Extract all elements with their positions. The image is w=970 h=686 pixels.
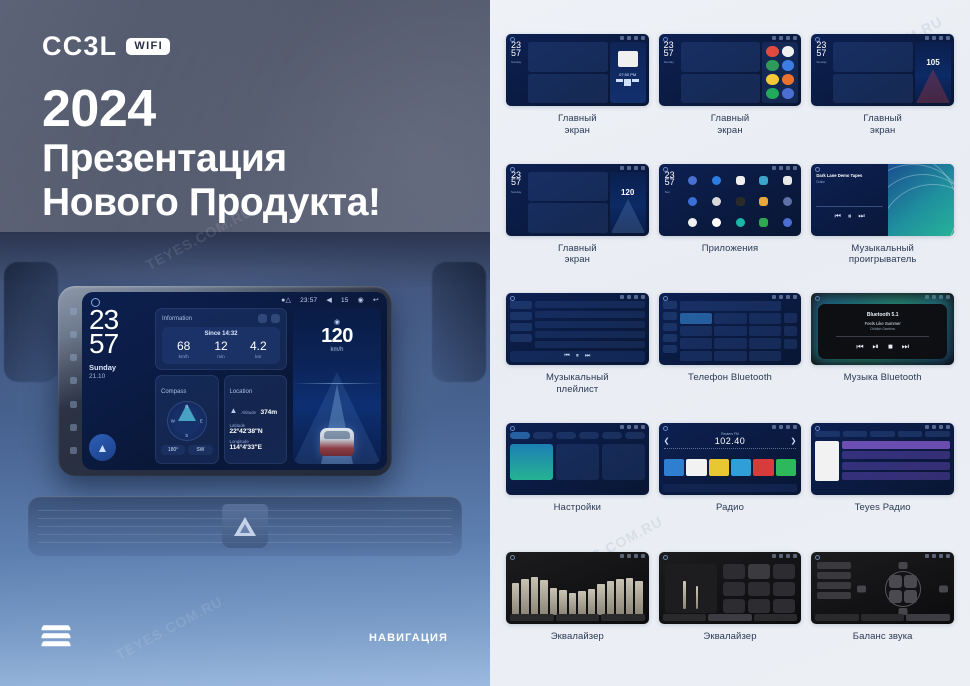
location-title: Location bbox=[230, 389, 253, 395]
caption-line-1: Музыкальный bbox=[546, 372, 609, 383]
head-unit-device: ●△ 23:57 ◀ 15 ◉ ↩ 23 57 Sunday 21.10 bbox=[58, 286, 392, 476]
headline: 2024 Презентация Нового Продукта! bbox=[42, 82, 381, 224]
caption-line-1: Настройки bbox=[554, 502, 601, 513]
compass-readouts: 180° SW bbox=[161, 445, 213, 455]
mini-player-bar[interactable]: ⏮ ⏸ ⏭ bbox=[510, 351, 645, 362]
playback-controls[interactable]: ⏮ ⏸ ⏭ bbox=[816, 213, 883, 221]
compass-dial: N S W E bbox=[167, 401, 207, 441]
caption-line-1: Главный bbox=[558, 243, 597, 254]
previous-icon[interactable]: ⏮ bbox=[856, 342, 863, 352]
bluetooth-card: Bluetooth 5.1 Feels Like Summer Childish… bbox=[818, 304, 947, 359]
gallery-caption: Баланс звука bbox=[853, 631, 913, 643]
preset-6[interactable] bbox=[776, 459, 796, 476]
hw-button-prev[interactable] bbox=[70, 308, 77, 315]
speed-value: 120 bbox=[293, 326, 381, 346]
wifi-icon: ●△ bbox=[281, 296, 291, 304]
fader-group[interactable] bbox=[665, 564, 717, 613]
altitude-value: 374m bbox=[261, 409, 277, 416]
navigation-label: НАВИГАЦИЯ bbox=[369, 632, 448, 644]
compass-title: Compass bbox=[161, 389, 186, 395]
track-artist: Drake bbox=[816, 180, 883, 184]
thumbnail-equalizer-presets[interactable] bbox=[659, 552, 802, 624]
car-dashboard-illustration: ●△ 23:57 ◀ 15 ◉ ↩ 23 57 Sunday 21.10 bbox=[0, 238, 490, 686]
status-time: 23:57 bbox=[300, 297, 317, 304]
volume-icon: ◀ bbox=[326, 296, 332, 304]
progress-bar[interactable] bbox=[836, 336, 929, 337]
mini-clock: 2357Sun bbox=[663, 172, 680, 232]
trip-stat-value: 68 bbox=[165, 340, 202, 352]
caption-line-1: Баланс звука bbox=[853, 631, 913, 642]
more-card[interactable] bbox=[602, 444, 645, 480]
hw-button-back[interactable] bbox=[70, 401, 77, 408]
gallery-caption: Эквалайзер bbox=[551, 631, 604, 643]
expand-icon[interactable] bbox=[271, 314, 280, 323]
drive-view: 105 bbox=[915, 42, 951, 103]
station-list[interactable] bbox=[842, 441, 950, 481]
gallery-item[interactable]: Настройки bbox=[506, 423, 649, 547]
compass-north: N bbox=[185, 404, 188, 409]
caption-line-1: Главный bbox=[863, 113, 902, 124]
gallery-caption: Главный экран bbox=[558, 113, 597, 137]
preset-buttons[interactable] bbox=[723, 564, 796, 613]
home-screen-body: 23 57 Sunday 21.10 ▲ Information bbox=[89, 308, 381, 464]
compass-east: E bbox=[200, 419, 203, 424]
thumbnail-bluetooth-phone[interactable] bbox=[659, 293, 802, 365]
call-icon[interactable] bbox=[784, 339, 797, 349]
wifi-badge: WIFI bbox=[126, 38, 170, 55]
balance-left-icon[interactable] bbox=[857, 585, 866, 592]
hw-button-power[interactable] bbox=[70, 354, 77, 361]
hazard-triangle-icon bbox=[234, 517, 256, 536]
equalizer-tabs[interactable] bbox=[663, 614, 798, 621]
gallery-item[interactable]: 2357Sunday bbox=[659, 34, 802, 158]
caption-line-1: Главный bbox=[558, 113, 597, 124]
gallery-item[interactable]: 2357Sunday 120 Главный экран bbox=[506, 164, 649, 288]
gallery-caption: Музыка Bluetooth bbox=[844, 372, 922, 384]
gallery-item[interactable]: Reuters FM ❮ 102.40 ❯ bbox=[659, 423, 802, 547]
next-icon[interactable]: ⏭ bbox=[902, 342, 909, 352]
app-grid[interactable] bbox=[683, 172, 798, 232]
settings-gear-icon[interactable] bbox=[258, 314, 267, 323]
play-pause-icon[interactable]: ⏯ bbox=[873, 342, 879, 352]
settings-tabs[interactable] bbox=[510, 432, 645, 439]
caption-line-1: Музыкальный bbox=[851, 243, 914, 254]
trip-stat-list: 68 km/h 12 min 4.2 bbox=[165, 340, 277, 359]
album-art bbox=[815, 441, 839, 481]
preset-2[interactable] bbox=[686, 459, 706, 476]
radio-presets[interactable] bbox=[664, 459, 797, 476]
widgets-column: Information Since 14:32 bbox=[155, 308, 287, 464]
gallery-item[interactable]: 2357Sunday 07:50 PM Главный экран bbox=[506, 34, 649, 158]
thumbnail-bluetooth-music[interactable]: Bluetooth 5.1 Feels Like Summer Childish… bbox=[811, 293, 954, 365]
gallery-item[interactable]: Эквалайзер bbox=[506, 552, 649, 676]
balance-tabs[interactable] bbox=[815, 614, 950, 621]
tuning-scale[interactable] bbox=[664, 448, 797, 452]
compass-heading: 180° bbox=[161, 445, 185, 455]
balance-up-icon[interactable] bbox=[898, 562, 907, 569]
gallery-caption: Главный экран bbox=[863, 113, 902, 137]
status-bar: ●△ 23:57 ◀ 15 ◉ ↩ bbox=[281, 296, 379, 304]
gallery-item[interactable]: ⏮ ⏸ ⏭ Музыкальный плейлист bbox=[506, 293, 649, 417]
clock-date: 21.10 bbox=[89, 373, 149, 380]
headline-line-2: Нового Продукта! bbox=[42, 181, 381, 225]
gallery-caption: Главный экран bbox=[558, 243, 597, 267]
phone-sidebar[interactable] bbox=[663, 301, 677, 361]
previous-icon[interactable]: ⏮ bbox=[835, 213, 841, 221]
status-volume: 15 bbox=[341, 297, 349, 304]
compass-points: N S W E bbox=[168, 402, 206, 440]
data-usage-card[interactable] bbox=[556, 444, 599, 480]
media-widget: 07:50 PM bbox=[610, 42, 646, 103]
preset-3[interactable] bbox=[709, 459, 729, 476]
car-3d-model-icon bbox=[320, 428, 354, 456]
information-title: Information bbox=[162, 316, 192, 322]
tune-down-icon[interactable]: ❮ bbox=[664, 437, 670, 445]
teyes-tabs[interactable] bbox=[815, 431, 950, 437]
information-actions[interactable] bbox=[258, 314, 280, 323]
favorite-star-icon[interactable] bbox=[784, 313, 797, 323]
trip-stat-value: 4.2 bbox=[240, 340, 277, 352]
mountain-icon: ▲ bbox=[230, 406, 238, 415]
number-display bbox=[680, 301, 782, 311]
caption-line-2: экран bbox=[717, 125, 742, 136]
clock-day: Sunday bbox=[89, 363, 149, 372]
altitude-label: Altitude bbox=[241, 410, 256, 415]
thumbnail-apps[interactable]: 2357Sun bbox=[659, 164, 802, 236]
drive-view-widget[interactable]: ◉ 120 km/h bbox=[293, 308, 381, 464]
trip-stat: 4.2 km bbox=[240, 340, 277, 359]
longitude-value: 114°4'33"E bbox=[230, 444, 282, 451]
center-console-panel bbox=[28, 496, 462, 556]
thumbnail-teyes-radio[interactable] bbox=[811, 423, 954, 495]
mini-clock: 2357Sunday bbox=[509, 172, 526, 233]
gallery-item[interactable]: Баланс звука bbox=[811, 552, 954, 676]
track-title: Dark Lane Demo Tapes bbox=[816, 173, 883, 178]
gallery-item[interactable]: Bluetooth 5.1 Feels Like Summer Childish… bbox=[811, 293, 954, 417]
thumbnail-home-media[interactable]: 2357Sunday 07:50 PM bbox=[506, 34, 649, 106]
trip-since-label: Since 14:32 bbox=[165, 331, 277, 337]
presentation-slide: CC3L WIFI 2024 Презентация Нового Продук… bbox=[0, 0, 970, 686]
caption-line-1: Главный bbox=[711, 113, 750, 124]
layers-icon bbox=[42, 624, 70, 648]
tune-up-icon[interactable]: ❯ bbox=[790, 437, 796, 445]
caption-line-1: Музыка Bluetooth bbox=[844, 372, 922, 383]
clock-column: 23 57 Sunday 21.10 ▲ bbox=[89, 308, 149, 464]
secondary-widgets: Compass N S W E bbox=[155, 375, 287, 464]
pause-icon[interactable]: ⏸ bbox=[576, 353, 579, 360]
gallery-item[interactable]: Телефон Bluetooth bbox=[659, 293, 802, 417]
caption-line-1: Teyes Радио bbox=[855, 502, 911, 513]
headline-year: 2024 bbox=[42, 82, 381, 137]
phone-actions[interactable] bbox=[784, 301, 797, 361]
thumbnail-music-playlist[interactable]: ⏮ ⏸ ⏭ bbox=[506, 293, 649, 365]
caption-line-2: проигрыватель bbox=[849, 254, 917, 265]
speed-value: 120 bbox=[610, 188, 646, 197]
mini-clock: 2357Sunday bbox=[509, 42, 526, 103]
settings-cards[interactable] bbox=[510, 444, 645, 480]
horizon-line bbox=[293, 383, 381, 384]
track-title: Feels Like Summer bbox=[865, 321, 901, 326]
altitude-block: Altitude 374m bbox=[241, 401, 277, 419]
gallery-caption: Музыкальный плейлист bbox=[546, 372, 609, 396]
longitude-row: Longitude 114°4'33"E bbox=[230, 439, 282, 451]
gallery-caption: Настройки bbox=[554, 502, 601, 514]
equalizer-tabs[interactable] bbox=[510, 614, 645, 621]
hw-button-home[interactable] bbox=[70, 377, 77, 384]
thumbnail-settings[interactable] bbox=[506, 423, 649, 495]
pause-icon[interactable]: ⏸ bbox=[848, 213, 852, 221]
air-vent-left bbox=[4, 262, 58, 382]
caption-line-1: Приложения bbox=[702, 243, 759, 254]
radio-toolbar[interactable] bbox=[663, 484, 798, 492]
previous-icon[interactable]: ⏮ bbox=[564, 353, 569, 360]
caption-line-2: экран bbox=[870, 125, 895, 136]
bluetooth-version: Bluetooth 5.1 bbox=[867, 312, 899, 318]
thumbnail-home-drive-120[interactable]: 2357Sunday 120 bbox=[506, 164, 649, 236]
progress-bar[interactable] bbox=[816, 206, 883, 208]
air-vent-right bbox=[432, 262, 486, 382]
speed-readout: ◉ 120 km/h bbox=[293, 318, 381, 353]
head-unit-screen[interactable]: ●△ 23:57 ◀ 15 ◉ ↩ 23 57 Sunday 21.10 bbox=[82, 292, 387, 470]
location-widget[interactable]: Location ▲ Altitude 374m bbox=[224, 375, 288, 464]
gallery-caption: Teyes Радио bbox=[855, 502, 911, 514]
caption-line-1: Телефон Bluetooth bbox=[688, 372, 772, 383]
thumbnail-equalizer-bands[interactable] bbox=[506, 552, 649, 624]
back-icon[interactable]: ↩ bbox=[373, 296, 379, 304]
hazard-lights-button[interactable] bbox=[222, 504, 268, 548]
gallery-item[interactable]: 2357Sunday 105 Главный экран bbox=[811, 34, 954, 158]
caption-line-2: экран bbox=[565, 125, 590, 136]
hw-button-next[interactable] bbox=[70, 331, 77, 338]
preset-4[interactable] bbox=[731, 459, 751, 476]
radio-frequency: 102.40 bbox=[715, 436, 746, 446]
gallery-item[interactable]: 2357Sun Приложения bbox=[659, 164, 802, 288]
gallery-item[interactable]: Teyes Радио bbox=[811, 423, 954, 547]
thumbnail-sound-balance[interactable] bbox=[811, 552, 954, 624]
thumbnail-grid: 2357Sunday 07:50 PM Главный экран bbox=[506, 34, 954, 676]
next-icon[interactable]: ⏭ bbox=[858, 213, 864, 221]
thumbnail-row: 2357Sunday 120 Главный экран bbox=[506, 164, 954, 288]
clock-minutes: 57 bbox=[89, 332, 149, 356]
balance-presets[interactable] bbox=[817, 562, 851, 615]
latitude-value: 22°42'38"N bbox=[230, 428, 282, 435]
information-header: Information bbox=[162, 314, 280, 323]
thumbnail-radio[interactable]: Reuters FM ❮ 102.40 ❯ bbox=[659, 423, 802, 495]
speaker-layout[interactable] bbox=[885, 571, 921, 607]
caption-line-2: экран bbox=[565, 254, 590, 265]
navigation-arrow-icon[interactable]: ▲ bbox=[89, 434, 116, 461]
gallery-caption: Эквалайзер bbox=[703, 631, 756, 643]
brand-logo: CC3L WIFI bbox=[42, 33, 170, 60]
trip-stat: 68 km/h bbox=[165, 340, 202, 359]
mini-clock: 2357Sunday bbox=[662, 42, 679, 103]
thumbnail-home-apps[interactable]: 2357Sunday bbox=[659, 34, 802, 106]
altitude-row: ▲ Altitude 374m bbox=[230, 401, 282, 419]
mini-clock: 2357Sunday bbox=[814, 42, 831, 103]
preset-5[interactable] bbox=[753, 459, 773, 476]
playback-controls[interactable]: ⏮ ⏯ ■ ⏭ bbox=[856, 342, 909, 352]
balance-right-icon[interactable] bbox=[939, 585, 948, 592]
speed-unit: km/h bbox=[293, 347, 381, 353]
gallery-caption: Приложения bbox=[702, 243, 759, 255]
caption-line-1: Радио bbox=[716, 502, 744, 513]
compass-direction: SW bbox=[188, 445, 212, 455]
latitude-row: Latitude 22°42'38"N bbox=[230, 423, 282, 435]
gallery-item[interactable]: Dark Lane Demo Tapes Drake ⏮ ⏸ ⏭ bbox=[811, 164, 954, 288]
balance-pad[interactable] bbox=[857, 562, 948, 615]
caption-line-2: плейлист bbox=[556, 384, 598, 395]
trip-stat-unit: km/h bbox=[165, 354, 202, 359]
compass-west: W bbox=[171, 419, 175, 424]
call-history-icon[interactable] bbox=[784, 326, 797, 336]
information-widget[interactable]: Information Since 14:32 bbox=[155, 308, 287, 370]
thumbnail-row: ⏮ ⏸ ⏭ Музыкальный плейлист bbox=[506, 293, 954, 417]
compass-south: S bbox=[185, 433, 188, 438]
album-visualizer bbox=[888, 164, 954, 236]
stop-icon[interactable]: ■ bbox=[888, 342, 893, 352]
gallery-item[interactable]: Эквалайзер bbox=[659, 552, 802, 676]
track-artist: Childish Gambino bbox=[870, 327, 895, 331]
trip-stat-unit: min bbox=[202, 354, 239, 359]
headline-line-1: Презентация bbox=[42, 137, 381, 181]
speed-value: 105 bbox=[915, 58, 951, 67]
thumbnail-row: Настройки Reuters FM ❮ 102.40 ❯ bbox=[506, 423, 954, 547]
thumbnail-music-player[interactable]: Dark Lane Demo Tapes Drake ⏮ ⏸ ⏭ bbox=[811, 164, 954, 236]
next-icon[interactable]: ⏭ bbox=[585, 353, 590, 360]
caption-line-1: Эквалайзер bbox=[551, 631, 604, 642]
trip-stat-value: 12 bbox=[202, 340, 239, 352]
thumbnail-home-drive-105[interactable]: 2357Sunday 105 bbox=[811, 34, 954, 106]
caption-line-1: Эквалайзер bbox=[703, 631, 756, 642]
compass-widget[interactable]: Compass N S W E bbox=[155, 375, 219, 464]
dashboard-rim bbox=[0, 232, 490, 292]
trip-stats: Since 14:32 68 km/h 12 min bbox=[162, 327, 280, 364]
brand-name: CC3L bbox=[42, 33, 117, 60]
screenshot-gallery-panel: TEYES.COM.RU TEYES.COM.RU 2357Sunday 07 bbox=[490, 0, 970, 686]
hw-button-vol-up[interactable] bbox=[70, 447, 77, 454]
face-icon[interactable]: ◉ bbox=[358, 296, 364, 304]
gallery-caption: Главный экран bbox=[711, 113, 750, 137]
left-hero-panel: CC3L WIFI 2024 Презентация Нового Продук… bbox=[0, 0, 490, 686]
gallery-caption: Музыкальный проигрыватель bbox=[849, 243, 917, 267]
drive-view: 120 bbox=[610, 172, 646, 233]
trip-stat-unit: km bbox=[240, 354, 277, 359]
head-unit-hardware-buttons[interactable] bbox=[66, 300, 80, 462]
gallery-caption: Телефон Bluetooth bbox=[688, 372, 772, 384]
dial-keypad[interactable] bbox=[680, 313, 782, 361]
hw-button-vol-down[interactable] bbox=[70, 424, 77, 431]
trip-stat: 12 min bbox=[202, 340, 239, 359]
app-shortcuts bbox=[762, 42, 798, 103]
preset-1[interactable] bbox=[664, 459, 684, 476]
thumbnail-row: Эквалайзер bbox=[506, 552, 954, 676]
gallery-caption: Радио bbox=[716, 502, 744, 514]
wifi-card[interactable] bbox=[510, 444, 553, 480]
thumbnail-row: 2357Sunday 07:50 PM Главный экран bbox=[506, 34, 954, 158]
